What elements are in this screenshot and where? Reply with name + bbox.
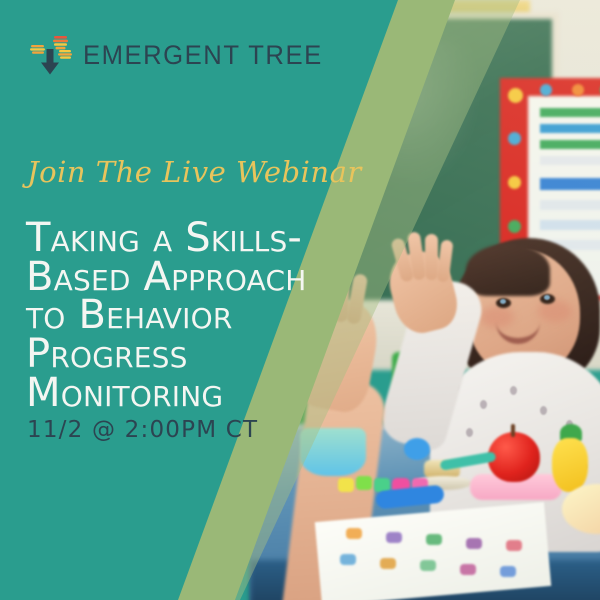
emergent-tree-logo-icon: [28, 33, 74, 77]
eyebrow-text: Join The Live Webinar: [27, 155, 362, 189]
webinar-promo-poster: EMERGENT TREE Join The Live Webinar Taki…: [0, 0, 600, 600]
page-title: Taking a Skills-Based Approach to Behavi…: [26, 219, 356, 413]
brand-logo[interactable]: EMERGENT TREE: [28, 33, 335, 77]
webinar-datetime: 11/2 @ 2:00PM CT: [27, 417, 258, 443]
poster-content: EMERGENT TREE Join The Live Webinar Taki…: [0, 0, 600, 600]
brand-wordmark: EMERGENT TREE: [83, 40, 323, 71]
